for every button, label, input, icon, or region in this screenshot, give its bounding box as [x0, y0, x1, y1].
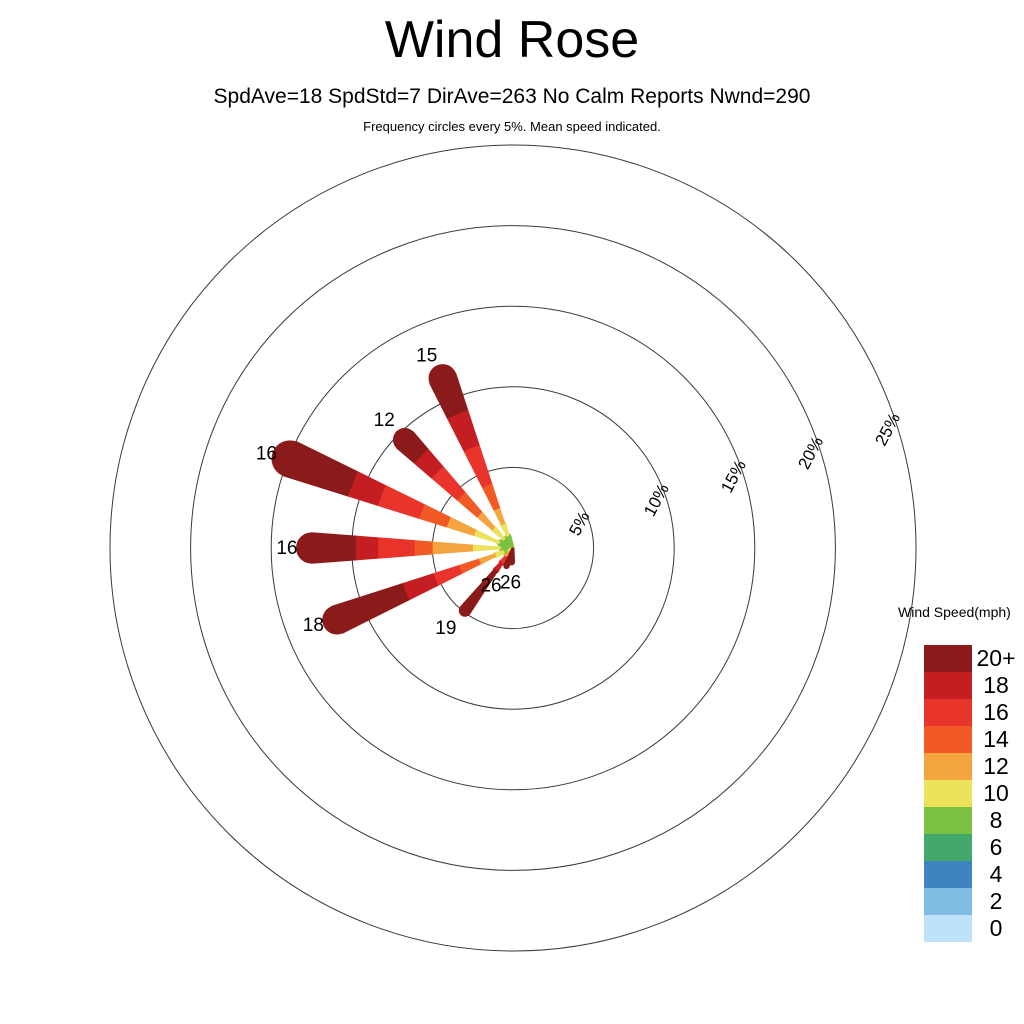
petal-segment-cap [272, 440, 309, 477]
petal-segment [473, 545, 501, 551]
legend-label: 12 [972, 753, 1020, 780]
legend-label: 0 [972, 915, 1020, 942]
legend-label: 6 [972, 834, 1020, 861]
legend-label: 16 [972, 699, 1020, 726]
legend-swatch [924, 753, 972, 780]
radial-tick-label: 20% [794, 433, 827, 472]
radial-tick-label: 10% [640, 481, 673, 520]
radial-tick-label: 25% [871, 410, 904, 449]
wind-rose-page: Wind Rose SpdAve=18 SpdStd=7 DirAve=263 … [0, 0, 1024, 1024]
petal-segment-cap [459, 605, 471, 617]
radial-tick-labels: 5%10%15%20%25% [565, 410, 904, 539]
legend-item: 4 [924, 861, 1024, 888]
petal-mean-speed-label: 16 [256, 444, 277, 465]
petal-mean-speed-label: 16 [276, 538, 297, 559]
legend-swatch [924, 645, 972, 672]
wind-rose-plot: 5%10%15%20%25% 1512161618192626 [0, 0, 1024, 1024]
petal-mean-speed-label: 19 [435, 618, 456, 639]
legend-item: 16 [924, 699, 1024, 726]
legend-label: 2 [972, 888, 1020, 915]
petal-mean-speed-label: 12 [374, 410, 395, 431]
petal-segment-cap [509, 559, 515, 565]
legend-swatch [924, 834, 972, 861]
legend-swatch [924, 699, 972, 726]
radial-tick-label: 5% [565, 508, 593, 539]
legend-item: 20+ [924, 645, 1024, 672]
petal-segment-cap [322, 605, 351, 634]
petal-segment-cap [296, 532, 327, 563]
petal-mean-speed-label: 26 [480, 575, 501, 596]
wind-petals [272, 364, 515, 634]
legend-item: 6 [924, 834, 1024, 861]
legend-item: 10 [924, 780, 1024, 807]
legend-label: 20+ [972, 645, 1020, 672]
legend-swatch [924, 672, 972, 699]
legend-item: 12 [924, 753, 1024, 780]
legend-label: 14 [972, 726, 1020, 753]
petal-segment-cap [393, 428, 417, 452]
petal-mean-speed-label: 18 [303, 615, 324, 636]
legend-swatch [924, 726, 972, 753]
legend-label: 18 [972, 672, 1020, 699]
legend-swatch [924, 861, 972, 888]
radial-tick-label: 15% [717, 457, 750, 496]
legend-item: 18 [924, 672, 1024, 699]
legend-label: 4 [972, 861, 1020, 888]
legend-item: 0 [924, 915, 1024, 942]
petal-mean-speed-label: 15 [416, 345, 437, 366]
legend-swatch [924, 915, 972, 942]
petal-segment-cap [503, 563, 509, 569]
legend-label: 8 [972, 807, 1020, 834]
legend-item: 14 [924, 726, 1024, 753]
legend-item: 2 [924, 888, 1024, 915]
legend-item: 8 [924, 807, 1024, 834]
legend-swatch [924, 888, 972, 915]
petal-mean-speed-label: 26 [500, 572, 521, 593]
legend-label: 10 [972, 780, 1020, 807]
legend: 20+181614121086420 [924, 645, 1024, 942]
legend-swatch [924, 807, 972, 834]
legend-title: Wind Speed(mph) [898, 604, 1011, 620]
petal-segment-cap [429, 364, 457, 392]
legend-swatch [924, 780, 972, 807]
